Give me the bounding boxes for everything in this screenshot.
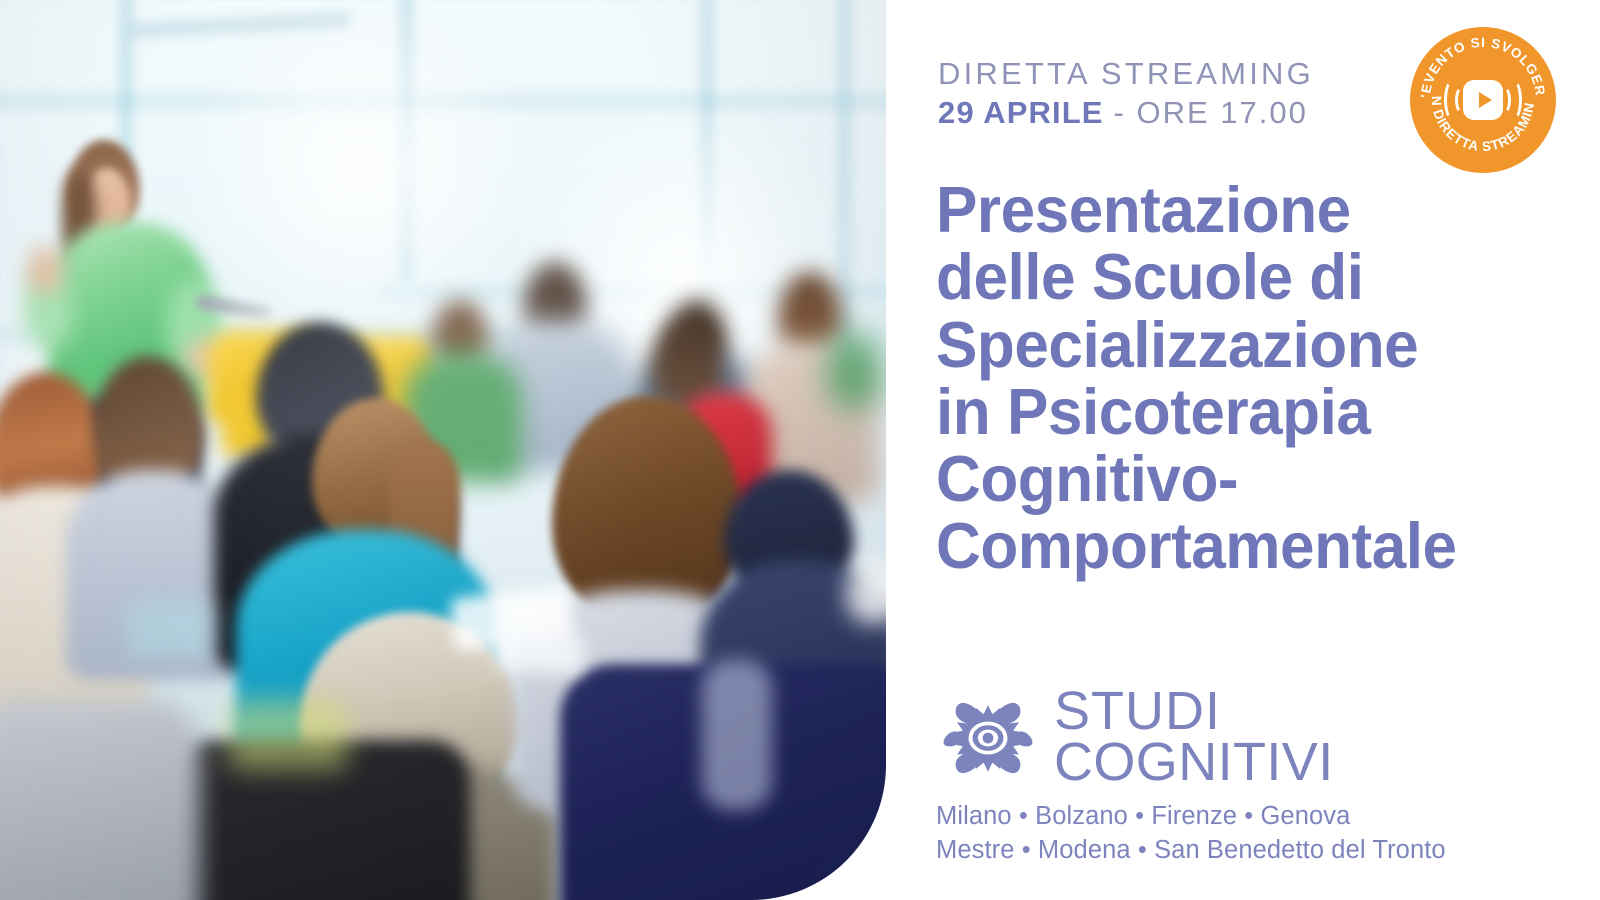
promo-banner: DIRETTA STREAMING 29 APRILE - ORE 17.00 …	[0, 0, 1600, 900]
live-stream-play-icon	[1442, 80, 1524, 120]
title-line-5: Cognitivo-	[936, 445, 1566, 512]
event-photo	[0, 0, 886, 900]
brand-wordmark: STUDI COGNITIVI	[1054, 686, 1334, 788]
live-streaming-badge: L'EVENTO SI SVOLGERÀ IN DIRETTA STREAMIN…	[1410, 27, 1556, 173]
play-triangle-icon	[1479, 92, 1492, 108]
broadcast-wave-right-outer	[1506, 80, 1522, 120]
brand-lockup: STUDI COGNITIVI Milano • Bolzano • Firen…	[936, 686, 1596, 868]
content-panel: DIRETTA STREAMING 29 APRILE - ORE 17.00 …	[886, 0, 1600, 900]
title-line-6: Comportamentale	[936, 512, 1566, 579]
event-time: - ORE 17.00	[1114, 95, 1308, 130]
cities-line-1: Milano • Bolzano • Firenze • Genova	[936, 799, 1596, 834]
photo-stage	[0, 0, 886, 900]
title-line-1: Presentazione	[936, 176, 1566, 243]
event-meta: DIRETTA STREAMING 29 APRILE - ORE 17.00	[938, 56, 1314, 131]
logo-row: STUDI COGNITIVI	[936, 686, 1596, 788]
streaming-kicker: DIRETTA STREAMING	[938, 56, 1314, 92]
brand-word-studi: STUDI	[1054, 686, 1334, 737]
cities-line-2: Mestre • Modena • San Benedetto del Tron…	[936, 833, 1596, 868]
brand-word-cognitivi: COGNITIVI	[1054, 737, 1334, 788]
photo-vignette	[0, 0, 886, 900]
title-line-2: delle Scuole di	[936, 243, 1566, 310]
event-dateline: 29 APRILE - ORE 17.00	[938, 95, 1314, 131]
studi-cognitivi-flower-icon	[936, 691, 1040, 783]
title-line-4: in Psicoterapia	[936, 378, 1566, 445]
brand-locations: Milano • Bolzano • Firenze • Genova Mest…	[936, 799, 1596, 868]
title-line-3: Specializzazione	[936, 311, 1566, 378]
page-title: Presentazione delle Scuole di Specializz…	[936, 176, 1566, 580]
event-date: 29 APRILE	[938, 95, 1104, 130]
